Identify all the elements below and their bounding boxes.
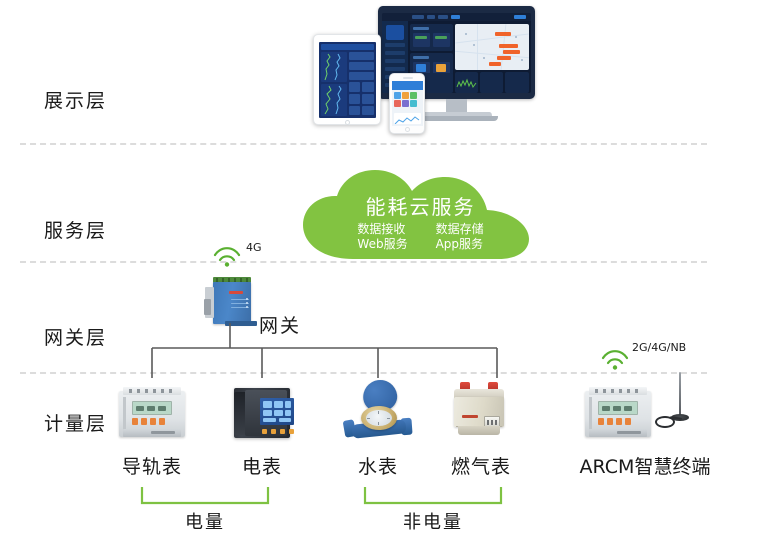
gateway-body [213,282,251,324]
gateway-brand-mark [229,291,243,294]
monitor-stand-foot [416,116,498,121]
cloud-text-line: Web服务 [357,237,407,252]
dashboard-chart-card [480,72,503,93]
meter-label-gas: 燃气表 [411,452,551,479]
layer-label-gateway: 网关层 [44,323,107,350]
magnetic-antenna-icon [655,372,695,430]
gateway-device-icon [204,277,257,325]
meter-gas-icon [452,382,506,438]
tablet-screen [319,42,376,118]
cloud-title: 能耗云服务 [299,191,542,220]
dashboard-card [410,24,453,51]
dashboard-map-panel [455,24,529,70]
layer-label-metering: 计量层 [44,409,107,436]
dashboard-chart-card [455,72,478,93]
group-bracket-electric [140,485,270,507]
cloud-column-receive: 数据接收 Web服务 [357,222,407,252]
phone-app-grid [394,92,421,108]
phone-home-button [405,127,410,132]
group-bracket-non-electric [363,485,503,507]
smartphone-icon [389,73,425,134]
cloud-text-line: 数据存储 [436,222,484,237]
layer-label-service: 服务层 [44,216,107,243]
tablet-body [313,34,381,125]
tablet-icon [313,34,381,125]
gateway-connector [204,299,211,315]
group-label-electric: 电量 [125,508,285,534]
layer-divider-display-service [20,143,707,145]
arcm-terminal-icon [585,385,651,441]
group-label-non-electric: 非电量 [353,508,513,534]
cloud-service-columns: 数据接收 Web服务 数据存储 App服务 [299,222,542,252]
phone-app-header [392,81,423,90]
cloud-column-storage: 数据存储 App服务 [436,222,484,252]
meter-water-icon [344,380,414,440]
gateway-to-meters-connector [140,323,520,385]
dashboard-chart-card [505,72,529,93]
display-devices-group [305,2,540,134]
phone-chart [394,113,421,124]
gateway-network-label: 4G [246,241,262,254]
terminal-label: ARCM智慧终端 [562,452,728,479]
meter-panel-power-icon [234,386,290,440]
wifi-signal-icon [212,245,242,267]
tablet-home-button [345,120,350,125]
cloud-text-line: 数据接收 [357,222,407,237]
diagram-canvas: 展示层 服务层 网关层 计量层 [0,0,777,545]
layer-label-display: 展示层 [44,86,107,113]
phone-earpiece [403,77,413,79]
cloud-service-node: 能耗云服务 数据接收 Web服务 数据存储 App服务 [299,167,542,262]
terminal-network-label: 2G/4G/NB [632,341,686,354]
phone-body [389,73,425,134]
phone-screen [392,81,423,126]
meter-din-rail-icon [119,385,185,441]
dashboard-topbar [382,13,531,21]
cloud-text-line: App服务 [436,237,484,252]
wifi-signal-icon [600,348,630,370]
